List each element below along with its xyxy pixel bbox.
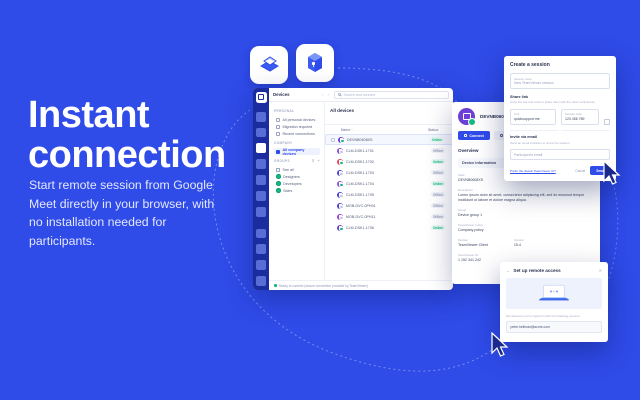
search-icon bbox=[338, 93, 341, 96]
table-row[interactable]: CLM-DSK1-1703Offline bbox=[325, 167, 453, 178]
assets-icon[interactable] bbox=[256, 207, 266, 217]
session-name-value: New TeamViewer session bbox=[514, 81, 606, 85]
code-label: Session code bbox=[565, 112, 595, 116]
sidebar-item-label: Recent connections bbox=[283, 132, 315, 136]
connect-button[interactable]: Connect bbox=[458, 131, 490, 140]
field-label: Description bbox=[458, 188, 594, 192]
device-name: CLM-DSK1-1704 bbox=[346, 182, 425, 186]
popup-title: Set up remote access bbox=[513, 268, 560, 273]
field-value: 15.4 bbox=[514, 243, 524, 248]
sidebar-item-label: Sales bbox=[283, 189, 292, 193]
status-badge: Online bbox=[428, 159, 448, 164]
scripts-icon[interactable] bbox=[256, 175, 266, 185]
device-name: CLM-DSK1-1706 bbox=[346, 226, 425, 230]
field-group: Group Device group 1 bbox=[458, 208, 594, 218]
sidebar-item-migration-required[interactable]: Migration required bbox=[274, 123, 320, 130]
cancel-button[interactable]: Cancel bbox=[575, 169, 585, 173]
sidebar-item-label: Migration required bbox=[283, 125, 313, 129]
table-row[interactable]: MOB-DVC-0PH01Offline bbox=[325, 200, 453, 211]
device-avatar bbox=[338, 137, 344, 143]
modal-footer: Prefer the classic TeamViewer UI? Cancel… bbox=[510, 166, 610, 175]
row-checkbox[interactable] bbox=[331, 138, 335, 142]
code-value: 123 456 789 bbox=[565, 117, 595, 121]
device-avatar bbox=[337, 170, 343, 176]
laptop-illustration bbox=[506, 278, 602, 309]
device-name: CLM-DSK1-1705 bbox=[346, 193, 425, 197]
modal-title: Create a session bbox=[510, 62, 610, 68]
table-row[interactable]: CLM-DSK1-1704Online bbox=[325, 178, 453, 189]
sidebar-item-label: See all bbox=[283, 168, 294, 172]
sidebar-item-sales[interactable]: Sales bbox=[274, 187, 320, 194]
sidebar-item-all-personal-devices[interactable]: All personal devices bbox=[274, 116, 320, 123]
device-list-title: All devices bbox=[325, 102, 453, 118]
device-table-header: Name ↑ Status bbox=[325, 125, 453, 134]
link-value: quicksupport.me bbox=[514, 117, 552, 121]
search-placeholder: Search and connect bbox=[343, 93, 375, 97]
status-badge: Online bbox=[428, 181, 448, 186]
session-code-field[interactable]: Session code 123 456 789 bbox=[561, 109, 599, 125]
field-value: Company policy bbox=[458, 228, 594, 233]
device-name: CLM-DSK1-1701 bbox=[346, 149, 425, 153]
field-label: Version bbox=[514, 238, 524, 242]
status-badge: Offline bbox=[428, 170, 448, 175]
session-name-label: Session name bbox=[514, 77, 606, 81]
device-avatar bbox=[337, 181, 343, 187]
field-label: TeamViewer ID bbox=[458, 253, 594, 257]
home-icon[interactable] bbox=[256, 112, 266, 122]
sidebar-item-all-company-devices[interactable]: All company devices bbox=[274, 148, 320, 155]
device-name: CLM-DSK1-1703 bbox=[346, 171, 425, 175]
share-link-row: Link quicksupport.me Session code 123 45… bbox=[510, 109, 610, 125]
status-dot-icon bbox=[274, 284, 277, 287]
popup-hint: We detected you're signed in with the fo… bbox=[506, 314, 602, 318]
copy-icon[interactable] bbox=[604, 119, 610, 125]
device-table-body: DEVNB0608XSOnlineCLM-DSK1-1701OfflineCLM… bbox=[325, 134, 453, 233]
connect-icon bbox=[464, 134, 467, 137]
device-avatar bbox=[337, 192, 343, 198]
device-name: MOB-DVC-0PH01 bbox=[346, 204, 425, 208]
sidebar-section-personal-heading: PERSONAL bbox=[274, 109, 320, 113]
share-link-heading: Share link bbox=[510, 95, 610, 99]
contacts-icon[interactable] bbox=[256, 159, 266, 169]
sidebar-item-developers[interactable]: Developers bbox=[274, 180, 320, 187]
link-label: Link bbox=[514, 112, 552, 116]
remote-access-popup: ← Set up remote access ✕ We detected you… bbox=[500, 262, 608, 342]
column-header-status[interactable]: Status bbox=[428, 128, 448, 132]
sidebar-item-see-all[interactable]: See all bbox=[274, 166, 320, 173]
device-list-panel: All devices Name ↑ Status DEVNB0608XSOnl… bbox=[325, 102, 453, 280]
personal-devices-icon bbox=[276, 118, 280, 122]
field-value: Device group 1 bbox=[458, 213, 594, 218]
field-label: Group bbox=[458, 208, 594, 212]
app-topbar: Devices ‹ › Search and connect bbox=[269, 88, 453, 102]
field-value: Lorem ipsum dolor sit amet, consectetur … bbox=[458, 193, 594, 203]
session-link-field[interactable]: Link quicksupport.me bbox=[510, 109, 556, 125]
account-email-field[interactable]: peter.heilman@acme.com bbox=[506, 321, 602, 333]
invite-email-heading: Invite via email bbox=[510, 135, 610, 139]
sidebar-item-recent-connections[interactable]: Recent connections bbox=[274, 130, 320, 137]
status-badge: Offline bbox=[428, 148, 448, 153]
teamviewer-app-window: Devices ‹ › Search and connect PERSONAL … bbox=[253, 88, 453, 290]
table-row[interactable]: CLM-DSK1-1706Online bbox=[325, 222, 453, 233]
participant-email-placeholder: Participant's email bbox=[514, 153, 606, 157]
settings-icon[interactable] bbox=[256, 244, 266, 254]
field-label: Module bbox=[458, 238, 488, 242]
page-title: Instant connection bbox=[28, 95, 243, 176]
sidebar-item-label: Designers bbox=[283, 175, 300, 179]
migration-icon bbox=[276, 125, 280, 129]
page-subtitle: Start remote session from Google Meet di… bbox=[29, 176, 219, 251]
sidebar-section-company-heading: COMPANY bbox=[274, 141, 320, 145]
classic-ui-link[interactable]: Prefer the classic TeamViewer UI? bbox=[510, 169, 556, 173]
group-icon bbox=[276, 174, 281, 179]
sidebar-item-label: Developers bbox=[283, 182, 302, 186]
status-badge: Online bbox=[427, 137, 447, 142]
clock-icon bbox=[276, 132, 280, 136]
session-name-input[interactable]: Session name New TeamViewer session bbox=[510, 73, 610, 89]
close-icon[interactable]: ✕ bbox=[599, 268, 602, 273]
column-header-name[interactable]: Name ↑ bbox=[330, 128, 425, 132]
participant-email-input[interactable]: Participant's email bbox=[510, 149, 610, 160]
promo-slide: Instant connection Start remote session … bbox=[0, 0, 640, 400]
share-link-hint: Copy the link and code to share them wit… bbox=[510, 100, 610, 104]
device-avatar bbox=[337, 203, 343, 209]
company-devices-icon bbox=[276, 150, 280, 154]
transfer-icon bbox=[500, 134, 503, 137]
search-icon[interactable]: ⚲ bbox=[312, 159, 315, 163]
device-avatar bbox=[458, 108, 475, 125]
table-row[interactable]: CLM-DSK1-1705Offline bbox=[325, 189, 453, 200]
teamviewer-logo-icon[interactable] bbox=[256, 92, 267, 103]
modal-divider bbox=[510, 130, 610, 131]
table-row[interactable]: MOB-DVC-0PH11Offline bbox=[325, 211, 453, 222]
sidebar-item-label: All company devices bbox=[283, 148, 319, 156]
group-icon bbox=[276, 181, 281, 186]
app-nav-rail bbox=[253, 88, 269, 290]
see-all-icon bbox=[276, 168, 280, 172]
device-name: CLM-DSK1-1702 bbox=[346, 160, 425, 164]
app-statusbar: Ready to connect (secure connection prov… bbox=[269, 280, 453, 290]
device-list-toolbar bbox=[325, 118, 453, 125]
field-module-version: Module TeamViewer Client Version 15.4 bbox=[458, 238, 594, 248]
status-badge: Offline bbox=[428, 214, 448, 219]
back-arrow-icon[interactable]: ← bbox=[506, 268, 510, 273]
device-avatar bbox=[337, 159, 343, 165]
device-avatar bbox=[337, 148, 343, 154]
popup-header: ← Set up remote access ✕ bbox=[506, 268, 602, 273]
device-avatar bbox=[337, 214, 343, 220]
device-sidebar: PERSONAL All personal devices Migration … bbox=[269, 102, 325, 280]
nav-back-button[interactable]: ‹ bbox=[322, 92, 323, 97]
table-row[interactable]: CLM-DSK1-1702Online bbox=[325, 156, 453, 167]
help-icon[interactable] bbox=[256, 260, 266, 270]
field-policy: TeamViewer policy Company policy bbox=[458, 223, 594, 233]
add-icon[interactable]: + bbox=[318, 159, 320, 163]
status-text: Ready to connect (secure connection prov… bbox=[279, 284, 368, 288]
sidebar-item-label: All personal devices bbox=[283, 118, 316, 122]
sidebar-item-designers[interactable]: Designers bbox=[274, 173, 320, 180]
status-badge: Offline bbox=[428, 203, 448, 208]
table-row[interactable]: DEVNB0608XSOnline bbox=[325, 134, 453, 145]
isometric-laptop-icon bbox=[250, 46, 288, 84]
connect-label: Connect bbox=[469, 134, 483, 138]
nav-forward-button[interactable]: › bbox=[327, 92, 328, 97]
status-badge: Online bbox=[428, 225, 448, 230]
status-badge: Offline bbox=[428, 192, 448, 197]
devices-icon[interactable] bbox=[256, 143, 266, 153]
breadcrumb: Devices bbox=[273, 92, 317, 97]
apps-icon[interactable] bbox=[256, 276, 266, 286]
sidebar-section-groups-heading: GROUPS bbox=[274, 159, 290, 163]
connections-icon[interactable] bbox=[256, 128, 266, 138]
sidebar-section-groups-heading-row: GROUPS ⚲ + bbox=[274, 159, 320, 163]
monitoring-icon[interactable] bbox=[256, 191, 266, 201]
group-icon bbox=[276, 188, 281, 193]
field-value: TeamViewer Client bbox=[458, 243, 488, 248]
link-icon[interactable] bbox=[256, 229, 266, 239]
invite-email-hint: Send an email invitation to share the se… bbox=[510, 141, 610, 145]
create-session-modal: Create a session Session name New TeamVi… bbox=[504, 56, 616, 181]
device-name: MOB-DVC-0PH11 bbox=[346, 215, 425, 219]
search-input[interactable]: Search and connect bbox=[334, 91, 449, 99]
isometric-box-icon bbox=[296, 44, 334, 82]
field-label: TeamViewer policy bbox=[458, 223, 594, 227]
table-row[interactable]: CLM-DSK1-1701Offline bbox=[325, 145, 453, 156]
device-avatar bbox=[337, 225, 343, 231]
field-description: Description Lorem ipsum dolor sit amet, … bbox=[458, 188, 594, 204]
device-name: DEVNB0608XS bbox=[347, 138, 424, 142]
